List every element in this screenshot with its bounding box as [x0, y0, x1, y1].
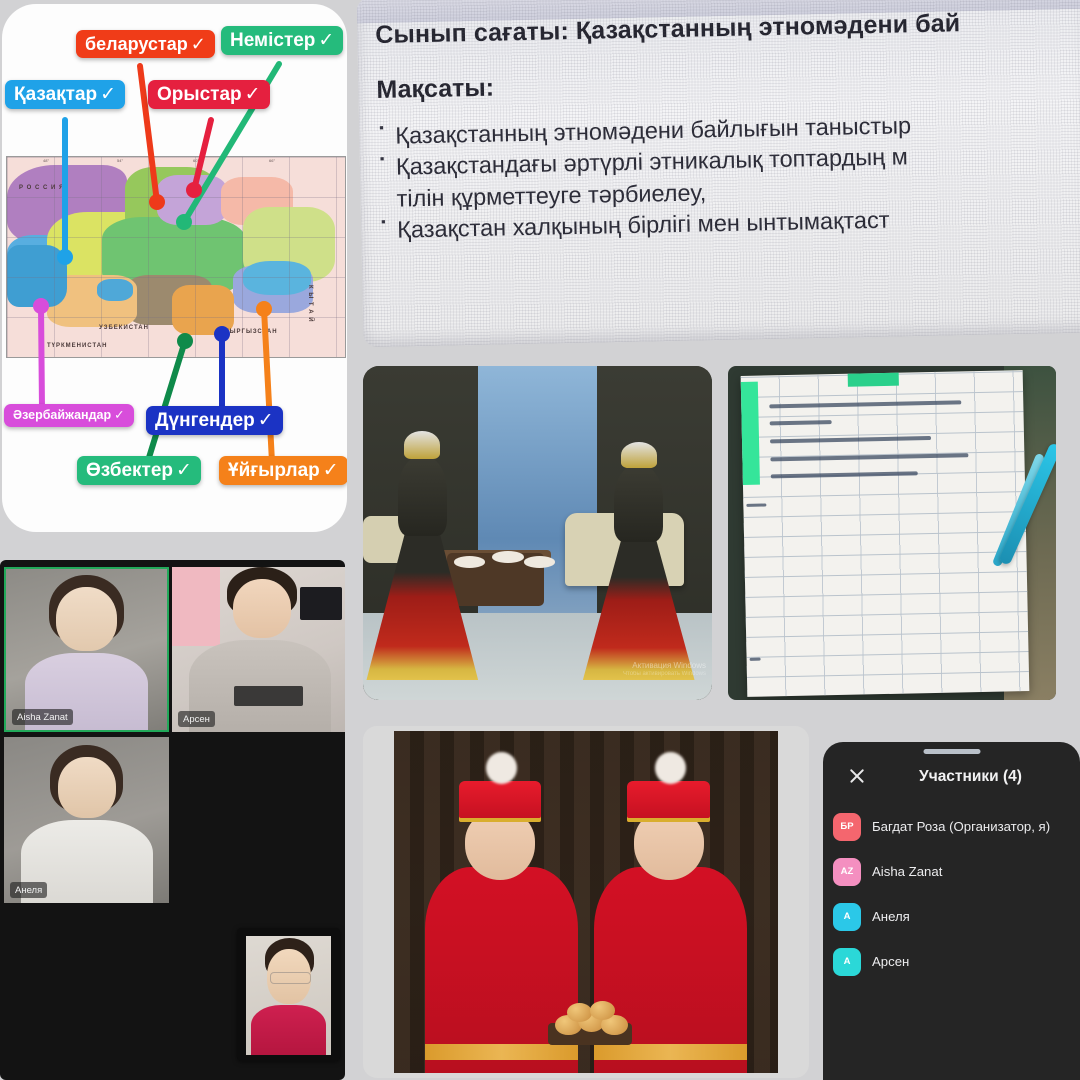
avatar: AZ [833, 858, 861, 886]
map-tag-kazak: Қазақтар ✓ [5, 80, 125, 109]
check-icon: ✓ [258, 411, 274, 430]
notebook-page [741, 370, 1030, 696]
map-tag-belarus: беларустар ✓ [76, 30, 215, 58]
panel-drag-handle[interactable] [923, 749, 980, 754]
map-tag-nemis-label: Немістер [230, 31, 315, 50]
glasses-icon [270, 972, 311, 985]
map-tag-dungan-label: Дүнгендер [155, 411, 255, 430]
avatar-initials: AZ [841, 866, 854, 877]
slide-subtitle: Мақсаты: [376, 62, 1080, 105]
map-tag-azerbaijan-label: Әзербайжандар [13, 409, 111, 422]
check-icon: ✓ [318, 31, 334, 50]
participant-name: Багдат Роза (Организатор, я) [872, 819, 1050, 834]
avatar: А [833, 948, 861, 976]
dancer-right [583, 533, 695, 680]
presentation-slide: Сынып сағаты: Қазақстанның этномәдени ба… [357, 0, 1080, 347]
participant-name: Aisha Zanat [872, 864, 942, 879]
participant-row[interactable]: БР Багдат Роза (Организатор, я) [823, 804, 1080, 849]
check-icon: ✓ [245, 85, 261, 104]
video-tile-aisha[interactable]: Aisha Zanat [4, 567, 169, 732]
participant-row[interactable]: А Арсен [823, 939, 1080, 984]
participants-panel: Участники (4) БР Багдат Роза (Организато… [823, 742, 1080, 1080]
avatar: А [833, 903, 861, 931]
participant-name: Анеля [872, 909, 910, 924]
map-tag-uyghur-label: Ұйғырлар [228, 461, 320, 480]
dance-video-thumbnail: Активация Windows Чтобы активировать Win… [363, 366, 712, 700]
participants-title: Участники (4) [823, 768, 1080, 786]
map-tag-orys-label: Орыстар [157, 85, 242, 104]
map-tag-belarus-label: беларустар [85, 35, 188, 53]
avatar-initials: А [844, 956, 851, 967]
participant-row[interactable]: А Анеля [823, 894, 1080, 939]
map-tag-uzbek-label: Өзбектер [86, 461, 173, 480]
screenshot-collage: Р О С С И Я УЗБЕКИСТАН ТҮРКМЕНИСТАН КЫРГ… [0, 0, 1080, 1080]
check-icon: ✓ [100, 85, 116, 104]
check-icon: ✓ [114, 409, 124, 422]
check-icon: ✓ [176, 461, 192, 480]
map-tag-uyghur: Ұйғырлар ✓ [219, 456, 347, 485]
ethnic-map-card: Р О С С И Я УЗБЕКИСТАН ТҮРКМЕНИСТАН КЫРГ… [2, 4, 347, 532]
avatar-initials: БР [840, 821, 853, 832]
video-tile-name: Анеля [10, 882, 47, 898]
video-tile-anelya[interactable]: Анеля [4, 737, 169, 903]
participant-row[interactable]: AZ Aisha Zanat [823, 849, 1080, 894]
video-tile-arsen[interactable]: Арсен [172, 567, 345, 732]
map-tag-kazak-label: Қазақтар [14, 85, 97, 104]
check-icon: ✓ [323, 461, 339, 480]
map-tag-uzbek: Өзбектер ✓ [77, 456, 201, 485]
windows-activation-watermark: Активация Windows Чтобы активировать Win… [623, 661, 706, 679]
participants-list: БР Багдат Роза (Организатор, я) AZ Aisha… [823, 804, 1080, 984]
check-icon: ✓ [191, 35, 206, 53]
group-photo [363, 726, 809, 1078]
map-tag-azerbaijan: Әзербайжандар ✓ [4, 404, 134, 427]
map-tag-dungan: Дүнгендер ✓ [146, 406, 283, 435]
participant-name: Арсен [872, 954, 909, 969]
self-view-tile[interactable] [237, 928, 340, 1061]
map-tag-nemis: Немістер ✓ [221, 26, 343, 55]
video-tile-name: Aisha Zanat [12, 709, 73, 725]
notebook-photo [728, 366, 1056, 700]
video-tile-name: Арсен [178, 711, 215, 727]
avatar: БР [833, 813, 861, 841]
avatar-initials: А [844, 911, 851, 922]
map-tag-orys: Орыстар ✓ [148, 80, 270, 109]
slide-bullet-list: Қазақстанның этномәдени байлығын танысты… [377, 107, 1080, 246]
dancer-left [366, 526, 478, 680]
